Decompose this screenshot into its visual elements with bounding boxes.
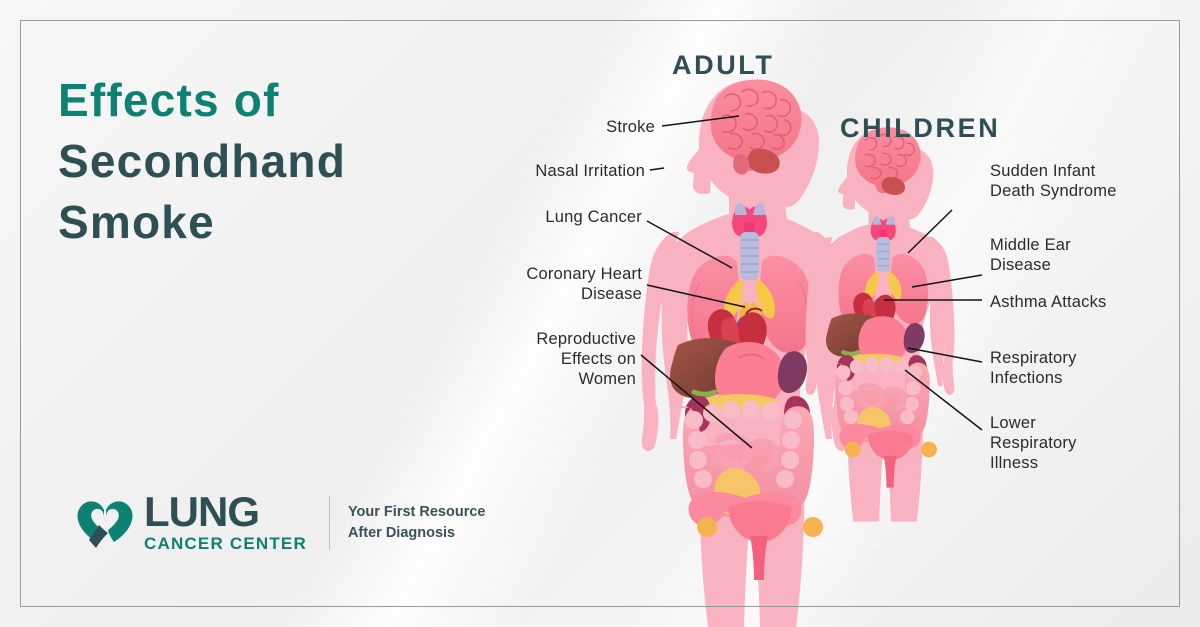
label-reproductive-effects-on-women: Reproductive Effects on Women: [420, 329, 636, 389]
section-heading-children: CHILDREN: [840, 113, 1000, 144]
leader-lung-cancer: [647, 221, 732, 268]
leader-sids: [908, 210, 952, 253]
label-coronary-heart-disease: Coronary Heart Disease: [420, 264, 642, 304]
leader-lower-respiratory-illness: [905, 370, 982, 430]
label-lower-respiratory-illness: Lower Respiratory Illness: [990, 413, 1180, 473]
label-nasal-irritation: Nasal Irritation: [430, 161, 645, 181]
leader-nasal-irritation: [650, 168, 664, 170]
leader-respiratory-infections: [908, 348, 982, 362]
section-heading-adult: ADULT: [672, 50, 774, 81]
label-middle-ear-disease: Middle Ear Disease: [990, 235, 1180, 275]
leader-lines: [0, 0, 1200, 627]
label-sudden-infant-death-syndrome: Sudden Infant Death Syndrome: [990, 161, 1190, 201]
leader-stroke: [662, 116, 739, 126]
leader-middle-ear-disease: [912, 275, 982, 287]
label-stroke: Stroke: [470, 117, 655, 137]
leader-reproductive-effects: [641, 355, 752, 448]
label-lung-cancer: Lung Cancer: [430, 207, 642, 227]
leader-coronary-heart-disease: [647, 285, 745, 307]
label-asthma-attacks: Asthma Attacks: [990, 292, 1185, 312]
label-respiratory-infections: Respiratory Infections: [990, 348, 1180, 388]
